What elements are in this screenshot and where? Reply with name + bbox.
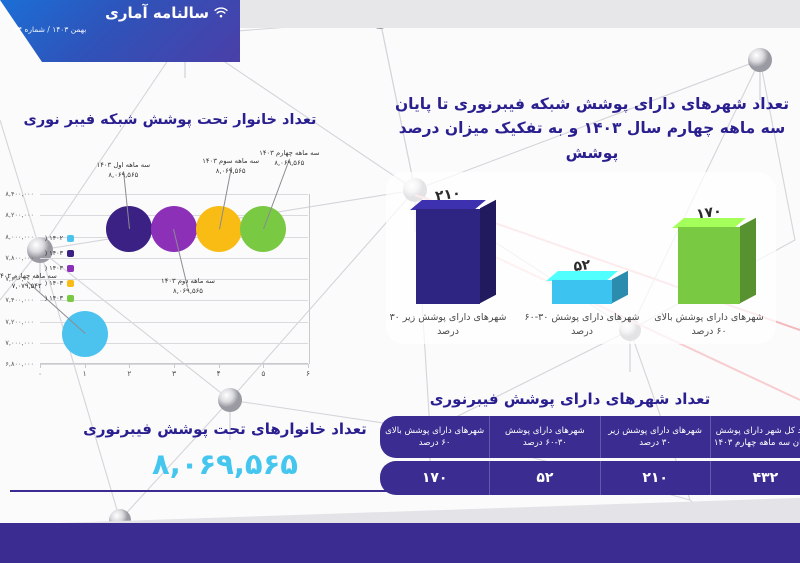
- bar-side-face: [480, 200, 496, 304]
- bubble-value-label: ۸,۰۶۹,۵۶۵: [216, 167, 246, 175]
- x-axis-tick-label: ۴: [217, 369, 221, 378]
- y-axis-tick-label: ۷,۰۰۰,۰۰۰: [5, 339, 34, 347]
- legend-label: ۱۴۰۳ (: [45, 279, 63, 287]
- legend-color-swatch: [67, 265, 74, 272]
- table-value-cell: ۲۱۰: [600, 461, 710, 495]
- legend-label: ۱۴۰۳ (: [45, 249, 63, 257]
- y-axis: [309, 194, 310, 364]
- bubble-plot-area: ۸,۴۰۰,۰۰۰۸,۲۰۰,۰۰۰۸,۰۰۰,۰۰۰۷,۸۰۰,۰۰۰۷,۶۰…: [40, 194, 308, 364]
- bar-front-face: [416, 209, 480, 304]
- bar-front-face: [552, 280, 612, 304]
- table-header-cell: شهرهای دارای پوشش بالای ۶۰ درصد: [380, 416, 489, 458]
- legend-label: ۱۴۰۳ (: [45, 264, 63, 272]
- x-axis-tick-mark: [85, 364, 86, 368]
- bubble-label: سه ماهه اول ۱۴۰۳ ۸,۰۶۹,۵۶۵: [97, 161, 150, 181]
- bubble-value-label: ۸,۰۶۹,۵۶۵: [108, 171, 138, 179]
- bubble-point: [106, 206, 152, 252]
- x-axis-tick-label: ۶: [306, 369, 310, 378]
- brand-block: سالنامه آماری بهمن ۱۴۰۳ / شماره ۵۴: [14, 4, 229, 34]
- legend-label: ۱۴۰۲ (: [45, 234, 63, 242]
- grid-line: [40, 258, 308, 259]
- legend-item[interactable]: ۱۴۰۳ (: [0, 264, 74, 272]
- table-header-cell: تعداد کل شهر دارای پوشش تا پایان سه ماهه…: [710, 416, 800, 458]
- bubble-period-label: سه ماهه اول ۱۴۰۳: [97, 161, 150, 169]
- bar-group: ۲۱۰ شهرهای دارای پوشش زیر ۳۰ درصد: [416, 209, 480, 304]
- households-kpi: تعداد خانوارهای تحت پوشش فیبرنوری ۸,۰۶۹,…: [60, 420, 390, 481]
- y-axis-tick-label: ۷,۲۰۰,۰۰۰: [5, 318, 34, 326]
- table-header-cell: شهرهای دارای پوشش زیر ۳۰ درصد: [600, 416, 710, 458]
- x-axis-tick-label: ۱: [83, 369, 87, 378]
- legend-color-swatch: [67, 295, 74, 302]
- cities-coverage-table: تعداد کل شهر دارای پوشش تا پایان سه ماهه…: [380, 416, 800, 495]
- legend-item[interactable]: ۱۴۰۳ (: [0, 249, 74, 257]
- legend-color-swatch: [67, 250, 74, 257]
- table-value-cell: ۴۳۲: [710, 461, 800, 495]
- x-axis-tick-mark: [174, 364, 175, 368]
- x-axis-tick-label: ۳: [172, 369, 176, 378]
- x-axis-tick-label: ۲: [127, 369, 131, 378]
- table-row: ۴۳۲۲۱۰۵۲۱۷۰: [380, 461, 800, 495]
- bar-category-label: شهرهای دارای پوشش زیر ۳۰ درصد: [388, 311, 508, 340]
- table-value-cell: ۱۷۰: [380, 461, 489, 495]
- table-header-row: تعداد کل شهر دارای پوشش تا پایان سه ماهه…: [380, 416, 800, 458]
- bar-side-face: [612, 271, 628, 304]
- x-axis-tick-mark: [308, 364, 309, 368]
- x-axis-tick-mark: [129, 364, 130, 368]
- right-chart-title: تعداد خانوار تحت پوشش شبکه فیبر نوری: [10, 110, 330, 130]
- y-axis-tick-label: ۸,۴۰۰,۰۰۰: [5, 190, 34, 198]
- bubble-label: سه ماهه دوم ۱۴۰۳ ۸,۰۶۹,۵۶۵: [161, 277, 215, 297]
- x-axis-tick-mark: [219, 364, 220, 368]
- legend-color-swatch: [67, 280, 74, 287]
- y-axis-tick-label: ۸,۲۰۰,۰۰۰: [5, 211, 34, 219]
- bar-category-label: شهرهای دارای پوشش بالای ۶۰ درصد: [649, 311, 769, 340]
- footer-bar: [0, 523, 800, 563]
- brand-subtitle: بهمن ۱۴۰۳ / شماره ۵۴: [14, 25, 229, 34]
- bubble-label: سه ماهه سوم ۱۴۰۳ ۸,۰۶۹,۵۶۵: [202, 157, 259, 177]
- grid-line: [40, 300, 308, 301]
- legend-item[interactable]: ۱۴۰۳ (: [0, 279, 74, 287]
- legend-item[interactable]: ۱۴۰۳ (: [0, 294, 74, 302]
- legend-item[interactable]: ۱۴۰۲ (: [0, 234, 74, 242]
- bubble-period-label: سه ماهه دوم ۱۴۰۳: [161, 277, 215, 285]
- bubble-period-label: سه ماهه سوم ۱۴۰۳: [202, 157, 259, 165]
- bar-group: ۱۷۰ شهرهای دارای پوشش بالای ۶۰ درصد: [678, 227, 740, 304]
- bubble-value-label: ۸,۰۶۹,۵۶۵: [274, 159, 304, 167]
- bar-front-face: [678, 227, 740, 304]
- bubble-period-label: سه ماهه چهارم ۱۴۰۳: [259, 149, 319, 157]
- brand-name: سالنامه آماری: [105, 4, 209, 22]
- kpi-label: تعداد خانوارهای تحت پوشش فیبرنوری: [60, 420, 390, 438]
- bar-group: ۵۲ شهرهای دارای پوشش ۳۰-۶۰ درصد: [552, 280, 612, 304]
- x-axis-tick-mark: [40, 364, 41, 368]
- bubble-chart-legend: ۱۴۰۲ ( ۱۴۰۳ ( ۱۴۰۳ ( ۱۴۰۳ ( ۱۴۰۳ (: [0, 234, 74, 309]
- legend-label: ۱۴۰۳ (: [45, 294, 63, 302]
- bar-chart: ۲۱۰ شهرهای دارای پوشش زیر ۳۰ درصد۵۲ شهره…: [380, 168, 780, 348]
- bar-side-face: [740, 218, 756, 304]
- table-header-cell: شهرهای دارای پوشش ۳۰-۶۰ درصد: [489, 416, 599, 458]
- table-section-title: تعداد شهرهای دارای پوشش فیبرنوری: [380, 390, 760, 408]
- wifi-icon: [213, 4, 229, 17]
- x-axis-tick-mark: [263, 364, 264, 368]
- top-bar: سالنامه آماری بهمن ۱۴۰۳ / شماره ۵۴: [0, 0, 800, 62]
- bubble-chart: ۸,۴۰۰,۰۰۰۸,۲۰۰,۰۰۰۸,۰۰۰,۰۰۰۷,۸۰۰,۰۰۰۷,۶۰…: [4, 176, 364, 386]
- x-axis-tick-label: ۰: [38, 369, 42, 378]
- left-chart-title: تعداد شهرهای دارای پوشش شبکه فیبرنوری تا…: [392, 92, 792, 165]
- bubble-value-label: ۸,۰۶۹,۵۶۵: [173, 287, 203, 295]
- y-axis-tick-label: ۶,۸۰۰,۰۰۰: [5, 360, 34, 368]
- legend-color-swatch: [67, 235, 74, 242]
- bar-category-label: شهرهای دارای پوشش ۳۰-۶۰ درصد: [522, 311, 642, 340]
- x-axis-tick-label: ۵: [261, 369, 265, 378]
- kpi-value: ۸,۰۶۹,۵۶۵: [60, 447, 390, 481]
- bubble-label: سه ماهه چهارم ۱۴۰۳ ۸,۰۶۹,۵۶۵: [259, 149, 319, 169]
- grid-line: [40, 194, 308, 195]
- table-value-cell: ۵۲: [489, 461, 599, 495]
